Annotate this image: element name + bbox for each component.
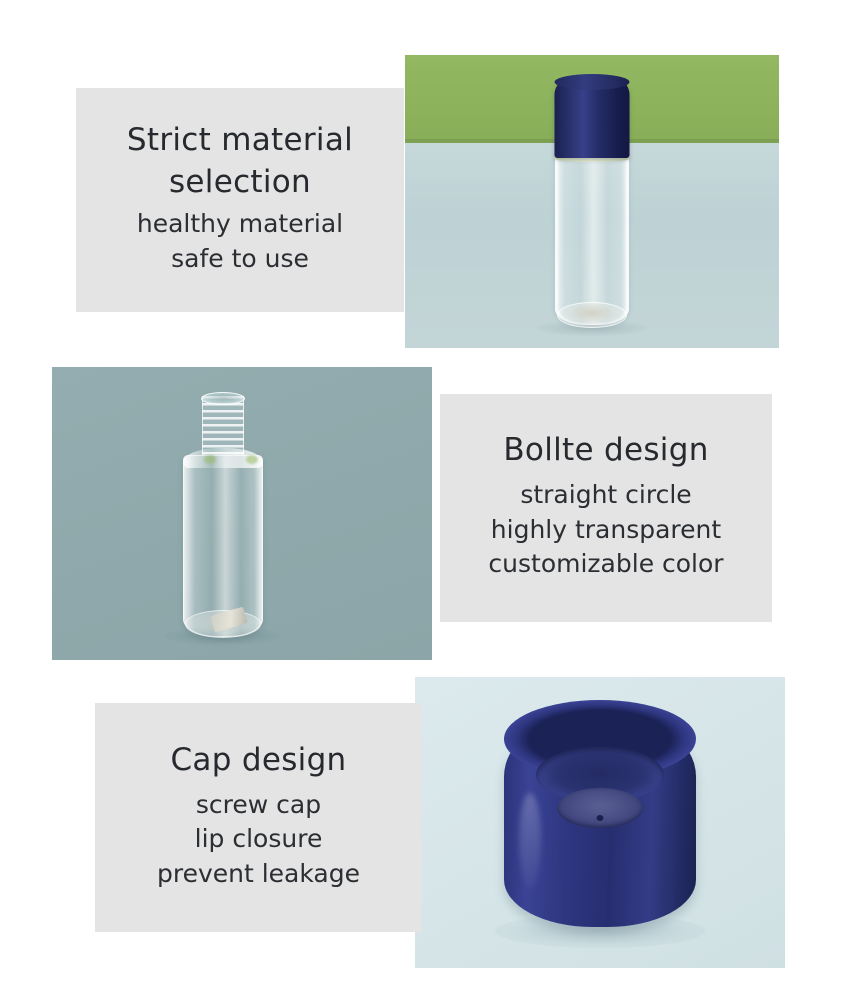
green-reflection-left bbox=[204, 455, 216, 464]
feature-panel-cap: Cap design screw cap lip closure prevent… bbox=[95, 703, 422, 932]
cap-top-surface bbox=[555, 74, 630, 90]
panel-line-bottle-3: customizable color bbox=[488, 547, 723, 582]
panel-line-material-2: safe to use bbox=[171, 242, 309, 277]
feature-panel-bottle: Bollte design straight circle highly tra… bbox=[440, 394, 772, 622]
bottle-cap bbox=[555, 81, 630, 157]
bottle-neck-opening bbox=[201, 392, 245, 405]
panel-line-cap-3: prevent leakage bbox=[157, 857, 360, 892]
panel-title-bottle: Bollte design bbox=[503, 430, 708, 472]
infographic-canvas: Strict material selection healthy materi… bbox=[0, 0, 850, 1000]
photo-capped-bottle bbox=[405, 55, 779, 348]
green-reflection-right bbox=[246, 455, 258, 464]
feature-panel-material: Strict material selection healthy materi… bbox=[76, 88, 404, 312]
bottle-screw-threads bbox=[202, 396, 244, 455]
panel-line-bottle-2: highly transparent bbox=[491, 513, 721, 548]
cap-lip-seal bbox=[557, 788, 643, 828]
photo-open-bottle bbox=[52, 367, 432, 660]
cap-highlight bbox=[519, 793, 541, 889]
bottle-body bbox=[555, 152, 629, 325]
panel-title-cap: Cap design bbox=[170, 740, 346, 782]
photo-cap-closeup bbox=[415, 677, 785, 968]
cap-center-pinhole bbox=[597, 815, 604, 821]
bottle-base bbox=[557, 302, 627, 328]
panel-line-cap-2: lip closure bbox=[195, 822, 323, 857]
panel-line-material-1: healthy material bbox=[137, 207, 343, 242]
panel-title-material: Strict material selection bbox=[127, 120, 353, 203]
panel-line-bottle-1: straight circle bbox=[520, 478, 691, 513]
panel-line-cap-1: screw cap bbox=[196, 788, 321, 823]
